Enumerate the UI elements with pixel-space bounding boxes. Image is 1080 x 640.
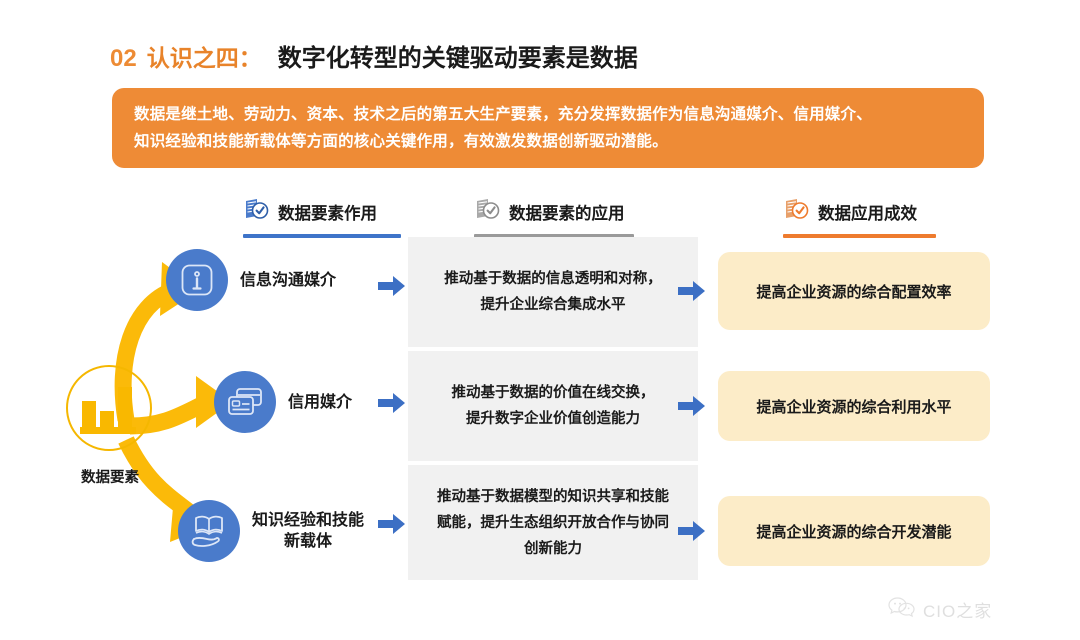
application-text: 推动基于数据的信息透明和对称， 提升企业综合集成水平 [428,266,678,318]
application-line-1: 推动基于数据的信息透明和对称， [444,271,662,287]
column-header-effect: 数据应用成效 [783,196,936,238]
column-header-application: 数据要素的应用 [474,196,634,238]
role-label: 知识经验和技能 新载体 [252,510,364,552]
summary-banner: 数据是继土地、劳动力、资本、技术之后的第五大生产要素，充分发挥数据作为信息沟通媒… [112,88,984,168]
bar-chart-icon [80,383,138,440]
application-panel: 推动基于数据的信息透明和对称， 提升企业综合集成水平 [408,237,698,347]
application-panel: 推动基于数据的价值在线交换， 提升数字企业价值创造能力 [408,351,698,461]
title-subtitle: 认识之四： [147,39,262,73]
watermark-text: CIO之家 [923,597,992,622]
application-line-1: 推动基于数据模型的知识共享和技能 [437,489,669,505]
result-card: 提高企业资源的综合开发潜能 [718,496,990,566]
slide-canvas: 02 认识之四： 数字化转型的关键驱动要素是数据 数据是继土地、劳动力、资本、技… [0,0,1080,640]
document-check-icon [474,196,500,227]
arrow-right-icon [378,513,406,535]
role-label: 信息沟通媒介 [240,270,336,291]
column-header-label: 数据应用成效 [818,200,917,224]
banner-line-1: 数据是继土地、劳动力、资本、技术之后的第五大生产要素，充分发挥数据作为信息沟通媒… [134,101,962,128]
role-item-info: 信息沟通媒介 [166,249,336,311]
role-label-line-2: 新载体 [284,533,332,550]
arrow-right-icon [678,395,706,417]
document-check-icon [243,196,269,227]
application-line-1: 推动基于数据的价值在线交换， [452,385,655,401]
application-text: 推动基于数据的价值在线交换， 提升数字企业价值创造能力 [436,380,671,432]
info-icon [166,249,228,311]
application-line-2: 提升企业综合集成水平 [481,297,626,313]
application-line-2: 提升数字企业价值创造能力 [466,411,640,427]
result-card: 提高企业资源的综合配置效率 [718,252,990,330]
arrow-right-icon [678,520,706,542]
credit-card-icon [214,371,276,433]
wechat-bubbles-icon [888,596,916,623]
arrow-right-icon [678,280,706,302]
data-element-label: 数据要素 [62,466,158,487]
column-rule [243,234,401,238]
column-header-role: 数据要素作用 [243,196,401,238]
result-card: 提高企业资源的综合利用水平 [718,371,990,441]
data-element-node [66,365,152,451]
result-text: 提高企业资源的综合开发潜能 [756,521,951,542]
title-main: 数字化转型的关键驱动要素是数据 [278,38,638,73]
role-item-knowledge: 知识经验和技能 新载体 [178,500,364,562]
column-rule [783,234,936,238]
application-panel: 推动基于数据模型的知识共享和技能 赋能，提升生态组织开放合作与协同 创新能力 [408,465,698,580]
result-text: 提高企业资源的综合利用水平 [756,396,951,417]
role-item-credit: 信用媒介 [214,371,352,433]
arrow-right-icon [378,275,406,297]
application-text: 推动基于数据模型的知识共享和技能 赋能，提升生态组织开放合作与协同 创新能力 [421,484,685,562]
book-hand-icon [178,500,240,562]
title-number: 02 [110,45,137,73]
document-check-icon [783,196,809,227]
arrow-right-icon [378,392,406,414]
application-line-3: 创新能力 [524,541,582,557]
page-title: 02 认识之四： 数字化转型的关键驱动要素是数据 [110,38,638,73]
column-header-label: 数据要素的应用 [509,200,625,224]
role-label-line-1: 知识经验和技能 [252,512,364,529]
banner-line-2: 知识经验和技能新载体等方面的核心关键作用，有效激发数据创新驱动潜能。 [134,128,962,155]
column-header-label: 数据要素作用 [278,200,377,224]
watermark: CIO之家 [888,596,992,623]
result-text: 提高企业资源的综合配置效率 [756,281,951,302]
application-line-2: 赋能，提升生态组织开放合作与协同 [437,515,669,531]
role-label: 信用媒介 [288,392,352,413]
